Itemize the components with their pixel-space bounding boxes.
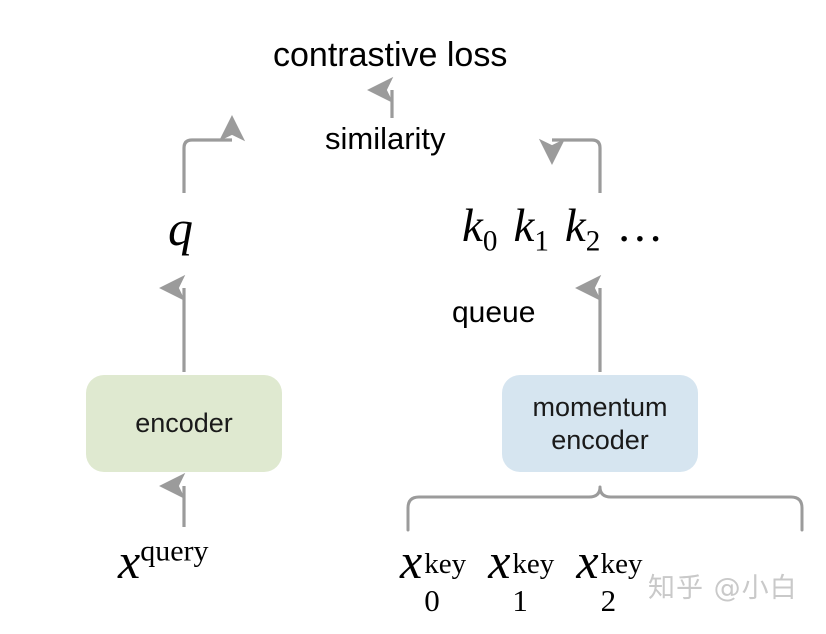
key-symbol-0: k0 [462, 200, 497, 252]
key-symbols-row: k0k1k2… [462, 203, 665, 256]
momentum-encoder-box[interactable]: momentum encoder [502, 375, 698, 472]
query-symbol: q [168, 203, 193, 253]
encoder-box[interactable]: encoder [86, 375, 282, 472]
input-key-symbols-row: xkey0xkey1xkey2 [400, 536, 599, 586]
momentum-encoder-box-label: momentum encoder [532, 391, 667, 457]
arrow-keys-to-similarity [552, 140, 600, 193]
queue-label: queue [452, 298, 535, 328]
arrow-q-to-similarity [184, 140, 232, 193]
key-symbol-2: k2 [565, 200, 600, 252]
brace-key-inputs [408, 487, 802, 530]
encoder-box-label: encoder [135, 407, 233, 440]
input-query-symbol: xquery [118, 536, 209, 586]
input-key-symbol-0: xkey0 [400, 533, 422, 589]
momentum-encoder-line-1: momentum [532, 392, 667, 422]
contrastive-loss-label: contrastive loss [273, 38, 507, 72]
diagram-canvas: contrastive loss similarity q k0k1k2… qu… [0, 0, 826, 634]
input-key-symbol-1: xkey1 [488, 533, 510, 589]
similarity-label: similarity [325, 123, 446, 154]
key-ellipsis: … [616, 200, 665, 252]
zhihu-watermark: 知乎 @小白 [648, 566, 798, 605]
key-symbol-1: k1 [513, 200, 548, 252]
input-key-symbol-2: xkey2 [576, 533, 598, 589]
input-query-superscript: query [140, 535, 208, 568]
momentum-encoder-line-2: encoder [551, 425, 649, 455]
